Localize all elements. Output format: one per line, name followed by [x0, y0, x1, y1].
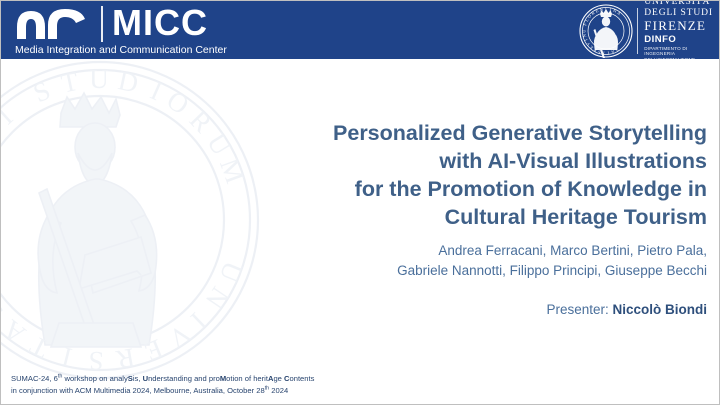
footer-l2-a: in conjunction with ACM Multimedia 2024,… — [11, 386, 265, 395]
svg-text:R: R — [184, 104, 219, 139]
svg-text:U: U — [201, 128, 238, 162]
micc-logo-block: MICC Media Integration and Communication… — [9, 1, 224, 59]
footer-line-2: in conjunction with ACM Multimedia 2024,… — [11, 385, 531, 397]
svg-text:S: S — [86, 346, 104, 377]
footer-line-1: SUMAC-24, 6th workshop on analySis, Unde… — [11, 373, 531, 385]
presenter-name: Niccolò Biondi — [613, 302, 708, 317]
svg-text:N: N — [198, 282, 235, 317]
svg-text:D: D — [116, 65, 143, 99]
svg-text:I: I — [184, 307, 213, 336]
dinfo-label: DINFO — [644, 35, 713, 45]
author-line-1: Andrea Ferracani, Marco Bertini, Pietro … — [267, 241, 707, 261]
micc-wordmark: MICC — [112, 3, 208, 43]
slide-footer: SUMAC-24, 6th workshop on analySis, Unde… — [11, 373, 531, 396]
svg-text:M: M — [214, 154, 251, 189]
svg-text:T: T — [23, 329, 53, 364]
university-of-florence-seal-icon: F L O R E N T I N A S A T I S — [579, 4, 633, 58]
title-line-2: with AI-Visual Illustrations — [267, 147, 707, 175]
svg-text:U: U — [89, 64, 111, 94]
svg-text:A: A — [0, 313, 31, 350]
svg-text:S: S — [0, 294, 9, 326]
slide-header-band: MICC Media Integration and Communication… — [1, 1, 720, 59]
unifi-wordmark: UNIVERSITÀ DEGLI STUDI FIRENZE DINFO DIP… — [644, 1, 713, 59]
presenter-line: Presenter: Niccolò Biondi — [267, 301, 707, 319]
svg-text:U: U — [582, 28, 587, 32]
footer-l1-c: is, — [133, 374, 143, 383]
presentation-slide: A N I S T U D I O R U M U N I V E R S I — [0, 0, 720, 405]
svg-text:I: I — [146, 75, 168, 107]
title-line-4: Cultural Heritage Tourism — [267, 203, 707, 231]
svg-text:I: I — [0, 100, 20, 130]
footer-l1-a: SUMAC-24, 6 — [11, 374, 58, 383]
svg-text:T: T — [605, 6, 608, 11]
unifi-line-universita: UNIVERSITÀ — [644, 1, 713, 8]
svg-text:R: R — [112, 342, 137, 375]
footer-l1-b: workshop on analy — [62, 374, 127, 383]
dinfo-dept-line-3: DELL'INFORMAZIONE — [644, 57, 713, 59]
unifi-line-firenze: FIRENZE — [644, 19, 713, 32]
unifi-line-deglistudi: DEGLI STUDI — [644, 9, 713, 19]
svg-text:N: N — [0, 115, 7, 150]
dinfo-department-lines: DIPARTIMENTO DI INGEGNERIA DELL'INFORMAZ… — [644, 46, 713, 59]
svg-text:E: E — [139, 333, 167, 368]
svg-text:I: I — [57, 341, 75, 373]
title-line-3: for the Promotion of Knowledge in — [267, 175, 707, 203]
svg-text:I: I — [609, 6, 612, 11]
footer-l1-d: nderstanding and pro — [148, 374, 220, 383]
unifi-logo-block: F L O R E N T I N A S A T I S — [579, 2, 713, 59]
svg-text:U: U — [213, 257, 249, 288]
footer-l1-f: ge — [273, 374, 284, 383]
page-title: Personalized Generative Storytelling wit… — [267, 119, 707, 231]
unifi-logo-divider — [637, 8, 638, 54]
footer-l1-e: otion of herit — [226, 374, 268, 383]
micc-logo-divider — [101, 6, 103, 42]
svg-text:V: V — [162, 318, 197, 355]
footer-l1-g: ontents — [290, 374, 315, 383]
micc-arches-logo-icon — [15, 7, 93, 39]
title-line-1: Personalized Generative Storytelling — [267, 119, 707, 147]
svg-text:T: T — [607, 50, 611, 55]
author-line-2: Gabriele Nannotti, Filippo Principi, Giu… — [267, 261, 707, 281]
svg-text:S: S — [29, 74, 57, 108]
svg-text:T: T — [59, 65, 83, 98]
presenter-label: Presenter: — [546, 302, 612, 317]
micc-subtitle: Media Integration and Communication Cent… — [15, 44, 227, 56]
footer-l2-b: 2024 — [269, 386, 288, 395]
svg-text:O: O — [162, 85, 197, 122]
university-seal-watermark-icon: A N I S T U D I O R U M U N I V E R S I — [0, 55, 265, 385]
author-list: Andrea Ferracani, Marco Bertini, Pietro … — [267, 241, 707, 281]
